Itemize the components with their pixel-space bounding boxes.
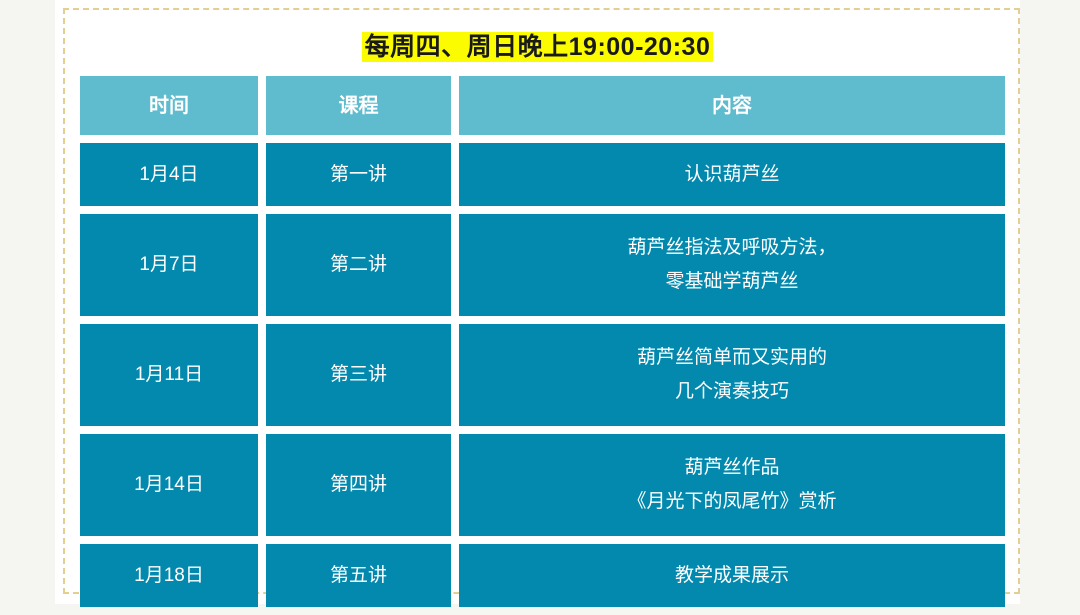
cell-content-line: 几个演奏技巧 (675, 375, 789, 409)
cell-content: 葫芦丝指法及呼吸方法， 零基础学葫芦丝 (459, 214, 1005, 316)
cell-time: 1月18日 (80, 544, 258, 607)
cell-course: 第三讲 (266, 324, 451, 426)
cell-content: 教学成果展示 (459, 544, 1005, 607)
column-header-time: 时间 (80, 76, 258, 135)
cell-time: 1月4日 (80, 143, 258, 206)
cell-time: 1月14日 (80, 434, 258, 536)
cell-content-line: 认识葫芦丝 (684, 158, 779, 192)
cell-course: 第一讲 (266, 143, 451, 206)
cell-content: 葫芦丝简单而又实用的 几个演奏技巧 (459, 324, 1005, 426)
table-row: 1月11日 第三讲 葫芦丝简单而又实用的 几个演奏技巧 (80, 324, 1005, 426)
cell-course: 第四讲 (266, 434, 451, 536)
cell-time: 1月7日 (80, 214, 258, 316)
cell-content-line: 零基础学葫芦丝 (665, 265, 798, 299)
poster-title-text: 每周四、周日晚上19:00-20:30 (362, 32, 714, 62)
table-row: 1月4日 第一讲 认识葫芦丝 (80, 143, 1005, 206)
column-header-content: 内容 (459, 76, 1005, 135)
table-row: 1月18日 第五讲 教学成果展示 (80, 544, 1005, 607)
cell-content-line: 葫芦丝作品 (684, 451, 779, 485)
column-header-course: 课程 (266, 76, 451, 135)
table-header-row: 时间 课程 内容 (80, 76, 1005, 135)
table-row: 1月14日 第四讲 葫芦丝作品 《月光下的凤尾竹》赏析 (80, 434, 1005, 536)
cell-content: 葫芦丝作品 《月光下的凤尾竹》赏析 (459, 434, 1005, 536)
cell-content-line: 教学成果展示 (675, 559, 789, 593)
cell-course: 第五讲 (266, 544, 451, 607)
cell-time: 1月11日 (80, 324, 258, 426)
cell-content: 认识葫芦丝 (459, 143, 1005, 206)
cell-content-line: 葫芦丝指法及呼吸方法， (627, 231, 836, 265)
table-row: 1月7日 第二讲 葫芦丝指法及呼吸方法， 零基础学葫芦丝 (80, 214, 1005, 316)
schedule-table: 时间 课程 内容 1月4日 第一讲 认识葫芦丝 1月7日 第二讲 葫芦丝指法及呼… (80, 76, 1005, 615)
cell-course: 第二讲 (266, 214, 451, 316)
cell-content-line: 《月光下的凤尾竹》赏析 (627, 485, 836, 519)
cell-content-line: 葫芦丝简单而又实用的 (637, 341, 827, 375)
poster-title: 每周四、周日晚上19:00-20:30 (55, 32, 1020, 62)
course-schedule-poster: 每周四、周日晚上19:00-20:30 时间 课程 内容 1月4日 第一讲 认识… (55, 0, 1020, 604)
